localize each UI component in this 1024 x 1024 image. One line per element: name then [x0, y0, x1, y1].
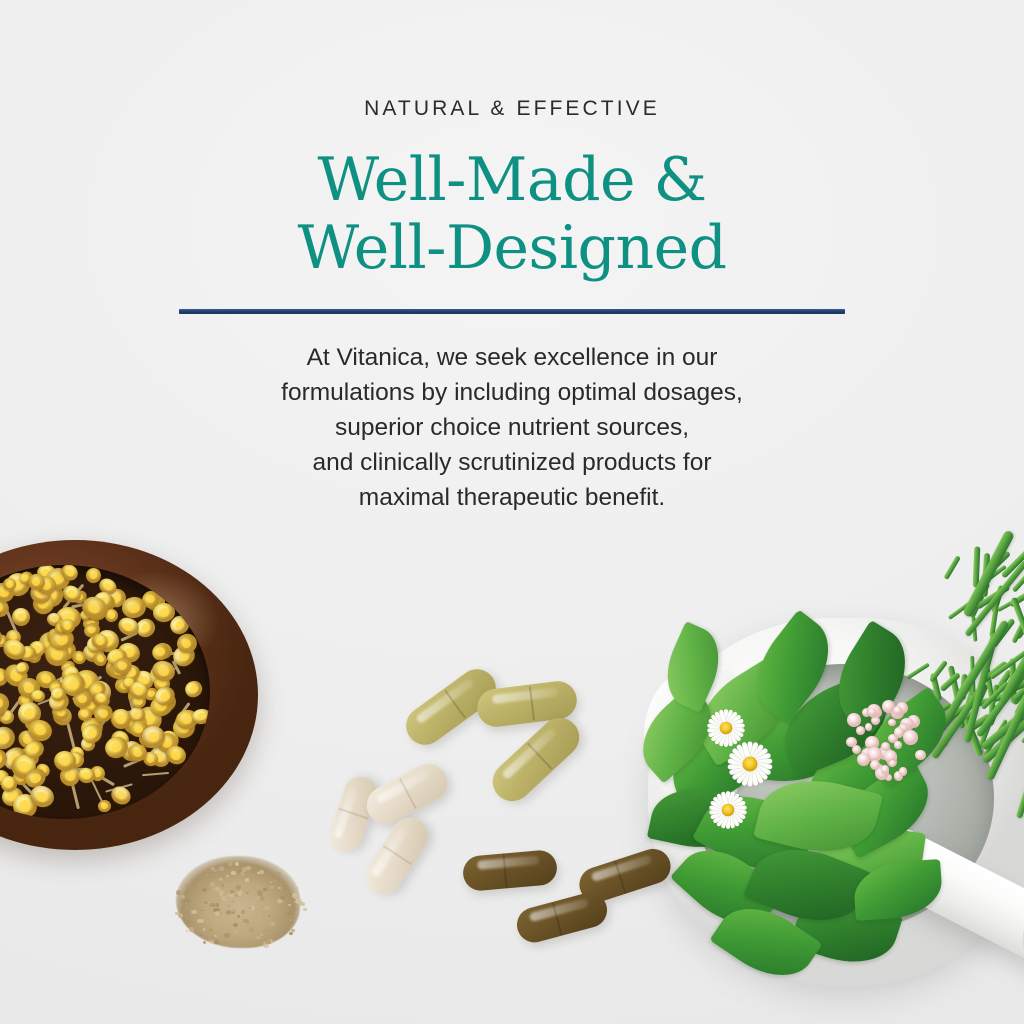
powder-grain	[268, 915, 270, 917]
powder-grain	[189, 927, 194, 931]
powder-grain	[280, 883, 283, 886]
powder-grain	[251, 906, 256, 910]
powder-grain	[209, 903, 215, 907]
powder-grain	[257, 916, 261, 919]
pink-floret	[894, 741, 902, 749]
pink-floret	[868, 708, 876, 716]
pink-floret	[915, 750, 925, 760]
powder-grain	[300, 902, 305, 906]
powder-grain	[270, 922, 275, 926]
headline-line-2: Well-Designed	[0, 215, 1024, 283]
powder-grain	[255, 936, 260, 940]
mortar-and-pestle-image	[648, 612, 1024, 1024]
body-line-3: superior choice nutrient sources,	[0, 410, 1024, 445]
powder-grain	[219, 866, 224, 871]
headline-text-block: NATURAL & EFFECTIVE Well-Made & Well-Des…	[0, 96, 1024, 515]
powder-grain	[210, 882, 215, 886]
powder-grain	[212, 888, 215, 890]
powder-grain	[185, 921, 190, 924]
powder-grain	[242, 867, 247, 871]
body-line-4: and clinically scrutinized products for	[0, 445, 1024, 480]
daisy-center	[722, 804, 735, 817]
chamomile-bud	[97, 799, 112, 813]
pink-floret	[881, 765, 889, 773]
powder-grain	[202, 888, 207, 892]
powder-grain	[265, 939, 271, 943]
powder-grain	[229, 894, 234, 897]
horizontal-rule	[179, 309, 845, 314]
pink-floret	[857, 753, 870, 766]
powder-grain	[178, 913, 183, 918]
chamomile-bud	[115, 614, 141, 639]
powder-grain	[199, 934, 202, 937]
powder-grain	[259, 870, 263, 874]
powder-grain	[210, 936, 215, 940]
powder-grain	[204, 901, 208, 903]
powder-grain	[235, 894, 238, 897]
body-line-1: At Vitanica, we seek excellence in our	[0, 340, 1024, 375]
powder-grain	[206, 870, 209, 873]
pink-floret	[856, 726, 865, 735]
pink-floret	[888, 719, 896, 727]
powder-grain	[288, 904, 291, 907]
daisy-flower	[725, 739, 775, 789]
powder-grain	[214, 935, 216, 937]
pink-floret	[889, 760, 896, 767]
powder-grain	[255, 896, 260, 900]
powder-grain	[278, 887, 281, 889]
powder-grain	[245, 878, 249, 881]
powder-grain	[282, 911, 284, 913]
pink-floret	[899, 767, 907, 775]
herbal-powder-pile	[162, 846, 318, 958]
powder-grain	[199, 882, 205, 887]
chamomile-bud	[78, 707, 93, 721]
daisy-flower	[707, 789, 749, 831]
powder-grain	[294, 899, 296, 901]
pink-floret	[903, 730, 918, 745]
powder-grain	[287, 911, 292, 916]
powder-grain	[186, 930, 188, 932]
powder-grain	[246, 866, 251, 870]
powder-grain	[246, 934, 248, 935]
powder-grain	[243, 919, 249, 923]
powder-grain	[289, 932, 293, 935]
powder-grain	[257, 885, 260, 887]
powder-grain	[220, 878, 222, 880]
powder-grain	[224, 933, 230, 938]
chamomile-bowl-image	[0, 540, 258, 850]
powder-grain	[276, 919, 280, 921]
powder-grain	[181, 895, 185, 899]
powder-grain	[303, 908, 307, 911]
powder-grain	[215, 911, 220, 916]
powder-grain	[191, 910, 196, 914]
pink-flower-cluster	[844, 698, 930, 784]
powder-grain	[221, 884, 224, 887]
promo-banner: NATURAL & EFFECTIVE Well-Made & Well-Des…	[0, 0, 1024, 1024]
headline-line-1: Well-Made &	[0, 147, 1024, 215]
powder-grain	[219, 890, 224, 894]
chamomile-stem	[141, 772, 168, 776]
powder-grain	[201, 910, 203, 912]
powder-grain	[275, 872, 281, 876]
pink-floret	[865, 723, 872, 730]
powder-grain	[185, 902, 188, 904]
divider-container	[0, 309, 1024, 314]
powder-grain	[228, 862, 233, 866]
powder-grain	[249, 927, 254, 931]
body-line-2: formulations by including optimal dosage…	[0, 375, 1024, 410]
daisy-center	[720, 722, 733, 735]
powder-grain	[231, 871, 236, 875]
powder-grain	[290, 921, 294, 923]
powder-grain	[286, 923, 288, 925]
powder-grain	[203, 941, 206, 943]
powder-grain	[270, 886, 274, 889]
powder-grain	[297, 887, 299, 889]
powder-grain	[241, 941, 246, 944]
powder-grain	[235, 862, 239, 865]
powder-grain	[202, 880, 204, 881]
powder-grain	[257, 890, 263, 896]
kicker-eyebrow-text: NATURAL & EFFECTIVE	[0, 96, 1024, 121]
daisy-center	[743, 757, 758, 772]
body-paragraph: At Vitanica, we seek excellence in our f…	[0, 340, 1024, 515]
powder-grain	[233, 923, 238, 927]
powder-grain	[263, 906, 269, 910]
page-title: Well-Made & Well-Designed	[0, 147, 1024, 283]
pink-floret	[870, 760, 880, 770]
powder-grain	[241, 910, 245, 914]
powder-grain	[244, 872, 247, 875]
powder-grain	[197, 919, 203, 923]
powder-grain	[191, 897, 195, 899]
powder-grain	[203, 928, 205, 930]
powder-grain	[278, 902, 280, 904]
body-line-5: maximal therapeutic benefit.	[0, 480, 1024, 515]
chamomile-bud	[182, 678, 205, 700]
powder-grain	[185, 883, 191, 887]
pink-floret	[847, 713, 861, 727]
chamomile-bud	[108, 783, 134, 808]
